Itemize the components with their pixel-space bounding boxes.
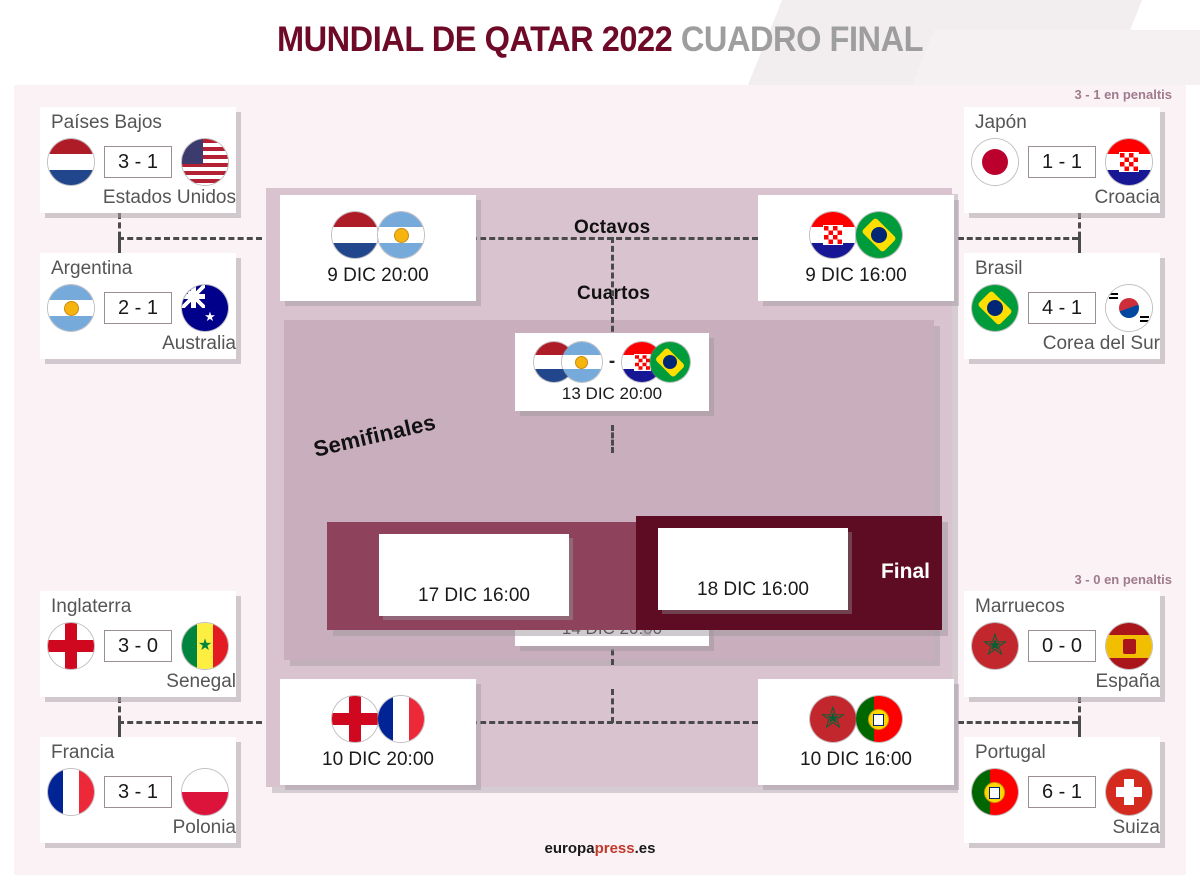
match-card-r16-1[interactable]: Países Bajos 3 - 1 Estados Unidos bbox=[40, 107, 236, 213]
senegal-flag: ★ bbox=[182, 623, 228, 669]
bracket-board: Octavos Cuartos Semifinales Países Bajos… bbox=[14, 85, 1186, 875]
match-card-r16-8[interactable]: Portugal 6 - 1 Suiza bbox=[964, 737, 1160, 843]
stage-label-octavos: Octavos bbox=[574, 217, 650, 239]
r16-2-team-top: Argentina bbox=[40, 259, 247, 279]
connector-qf1-to-qf2 bbox=[462, 237, 758, 240]
r16-6-score: 3 - 1 bbox=[104, 776, 172, 808]
footer-part-2: press bbox=[595, 840, 635, 857]
switzerland-flag bbox=[1106, 769, 1152, 815]
australia-flag: ★ bbox=[182, 285, 228, 331]
match-card-r16-4[interactable]: Brasil 4 - 1 bbox=[964, 253, 1160, 359]
r16-2-team-bottom: Australia bbox=[40, 334, 247, 354]
r16-4-score: 4 - 1 bbox=[1028, 292, 1096, 324]
qf-4-date: 10 DIC 16:00 bbox=[800, 749, 912, 771]
brazil-flag bbox=[650, 342, 690, 382]
croatia-flag bbox=[810, 212, 856, 258]
connector-to-qf-1 bbox=[118, 237, 262, 240]
qf-1-date: 9 DIC 20:00 bbox=[327, 265, 428, 287]
france-flag bbox=[378, 696, 424, 742]
match-card-sf-1[interactable]: - bbox=[515, 333, 709, 411]
title-sub: CUADRO FINAL bbox=[681, 20, 923, 59]
r16-1-team-top: Países Bajos bbox=[40, 113, 247, 133]
match-card-qf-4[interactable]: ✭ 10 DIC 16:00 bbox=[758, 679, 954, 785]
r16-7-team-top: Marruecos bbox=[964, 597, 1171, 617]
r16-3-team-bottom: Croacia bbox=[964, 188, 1171, 208]
r16-5-team-top: Inglaterra bbox=[40, 597, 247, 617]
connector-to-qf-3 bbox=[118, 721, 262, 724]
connector-to-r16-7 bbox=[958, 721, 1078, 724]
r16-4-team-bottom: Corea del Sur bbox=[964, 334, 1171, 354]
r16-5-team-bottom: Senegal bbox=[40, 672, 247, 692]
r16-8-team-bottom: Suiza bbox=[964, 818, 1171, 838]
morocco-flag: ✭ bbox=[972, 623, 1018, 669]
third-place-card: 17 DIC 16:00 bbox=[379, 534, 569, 616]
final-card: 18 DIC 16:00 bbox=[658, 528, 848, 610]
final-label: Final bbox=[881, 560, 930, 584]
match-card-qf-2[interactable]: 9 DIC 16:00 bbox=[758, 195, 954, 301]
spain-flag bbox=[1106, 623, 1152, 669]
japan-flag bbox=[972, 139, 1018, 185]
connector-qf3-to-qf4 bbox=[462, 721, 758, 724]
r16-3-score: 1 - 1 bbox=[1028, 146, 1096, 178]
sf-1-left-pair bbox=[534, 342, 602, 382]
portugal-flag bbox=[856, 696, 902, 742]
r16-7-note: 3 - 0 en penaltis bbox=[1074, 572, 1172, 587]
match-card-r16-6[interactable]: Francia 3 - 1 Polonia bbox=[40, 737, 236, 843]
england-flag bbox=[332, 696, 378, 742]
match-card-r16-3[interactable]: Japón 1 - 1 Croacia bbox=[964, 107, 1160, 213]
r16-5-score: 3 - 0 bbox=[104, 630, 172, 662]
match-card-r16-5[interactable]: Inglaterra 3 - 0 ★ Senegal bbox=[40, 591, 236, 697]
croatia-flag bbox=[1106, 139, 1152, 185]
final-date: 18 DIC 16:00 bbox=[697, 579, 809, 601]
brazil-flag bbox=[856, 212, 902, 258]
final-block[interactable]: 18 DIC 16:00 Final bbox=[636, 516, 942, 630]
r16-4-team-top: Brasil bbox=[964, 259, 1171, 279]
page-header: MUNDIAL DE QATAR 2022 CUADRO FINAL bbox=[0, 0, 1200, 85]
argentina-flag bbox=[378, 212, 424, 258]
argentina-flag bbox=[48, 285, 94, 331]
match-card-qf-1[interactable]: 9 DIC 20:00 bbox=[280, 195, 476, 301]
footer-logo[interactable]: europapress.es bbox=[0, 840, 1200, 857]
qf-3-date: 10 DIC 20:00 bbox=[322, 749, 434, 771]
r16-6-team-top: Francia bbox=[40, 743, 247, 763]
connector-to-r16-3 bbox=[958, 237, 1078, 240]
r16-1-team-bottom: Estados Unidos bbox=[40, 188, 247, 208]
sf-1-separator: - bbox=[606, 351, 618, 373]
third-place-block[interactable]: 17 DIC 16:00 bbox=[327, 522, 645, 630]
r16-6-team-bottom: Polonia bbox=[40, 818, 247, 838]
r16-1-score: 3 - 1 bbox=[104, 146, 172, 178]
england-flag bbox=[48, 623, 94, 669]
r16-2-score: 2 - 1 bbox=[104, 292, 172, 324]
match-card-r16-2[interactable]: Argentina 2 - 1 ★ Australia bbox=[40, 253, 236, 359]
france-flag bbox=[48, 769, 94, 815]
poland-flag bbox=[182, 769, 228, 815]
match-card-r16-7[interactable]: Marruecos ✭ 0 - 0 España bbox=[964, 591, 1160, 697]
match-card-qf-3[interactable]: 10 DIC 20:00 bbox=[280, 679, 476, 785]
footer-part-1: europa bbox=[545, 840, 595, 857]
r16-7-team-bottom: España bbox=[964, 672, 1171, 692]
r16-8-team-top: Portugal bbox=[964, 743, 1171, 763]
argentina-flag bbox=[562, 342, 602, 382]
third-place-date: 17 DIC 16:00 bbox=[418, 585, 530, 607]
sf-1-date: 13 DIC 20:00 bbox=[562, 384, 662, 404]
morocco-flag: ✭ bbox=[810, 696, 856, 742]
title-main: MUNDIAL DE QATAR 2022 bbox=[277, 20, 672, 59]
southkorea-flag bbox=[1106, 285, 1152, 331]
brazil-flag bbox=[972, 285, 1018, 331]
r16-7-score: 0 - 0 bbox=[1028, 630, 1096, 662]
r16-3-note: 3 - 1 en penaltis bbox=[1074, 87, 1172, 102]
connector-qf-to-sf-2 bbox=[611, 689, 614, 723]
netherlands-flag bbox=[48, 139, 94, 185]
footer-part-3: .es bbox=[635, 840, 656, 857]
qf-2-date: 9 DIC 16:00 bbox=[805, 265, 906, 287]
usa-flag bbox=[182, 139, 228, 185]
portugal-flag bbox=[972, 769, 1018, 815]
sf-1-right-pair bbox=[622, 342, 690, 382]
netherlands-flag bbox=[332, 212, 378, 258]
page-title: MUNDIAL DE QATAR 2022 CUADRO FINAL bbox=[42, 20, 1158, 60]
r16-3-team-top: Japón bbox=[964, 113, 1171, 133]
connector-sf1-to-final bbox=[611, 425, 614, 453]
r16-8-score: 6 - 1 bbox=[1028, 776, 1096, 808]
